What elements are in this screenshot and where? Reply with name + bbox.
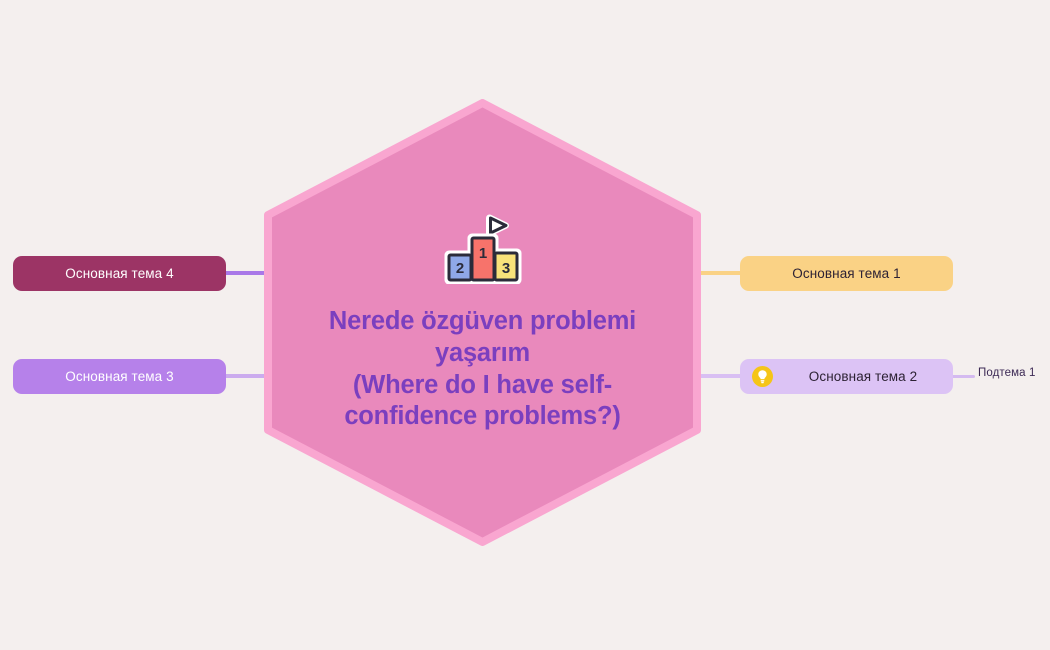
podium-icon: 2 1 3 [444, 212, 522, 284]
topic-node-4[interactable]: Основная тема 4 [13, 256, 226, 291]
svg-text:1: 1 [478, 245, 486, 262]
mindmap-canvas: 2 1 3 Nerede özgüven problemi yaşarım (W… [0, 0, 1050, 650]
lightbulb-icon[interactable] [752, 366, 773, 387]
topic-node-3-label: Основная тема 3 [13, 369, 226, 384]
topic-node-2[interactable]: Основная тема 2 [740, 359, 953, 394]
topic-node-3[interactable]: Основная тема 3 [13, 359, 226, 394]
topic-node-1-label: Основная тема 1 [740, 266, 953, 281]
svg-text:3: 3 [501, 260, 509, 277]
svg-text:2: 2 [455, 260, 463, 277]
connector-topic1 [694, 271, 744, 275]
subtopic-node-1[interactable]: Подтема 1 [978, 367, 1035, 379]
central-topic-node[interactable]: 2 1 3 Nerede özgüven problemi yaşarım (W… [264, 99, 701, 546]
topic-node-1[interactable]: Основная тема 1 [740, 256, 953, 291]
topic-node-4-label: Основная тема 4 [13, 266, 226, 281]
central-topic-title: Nerede özgüven problemi yaşarım (Where d… [303, 306, 663, 434]
connector-topic2 [694, 374, 744, 378]
topic-node-2-label: Основная тема 2 [773, 369, 953, 384]
